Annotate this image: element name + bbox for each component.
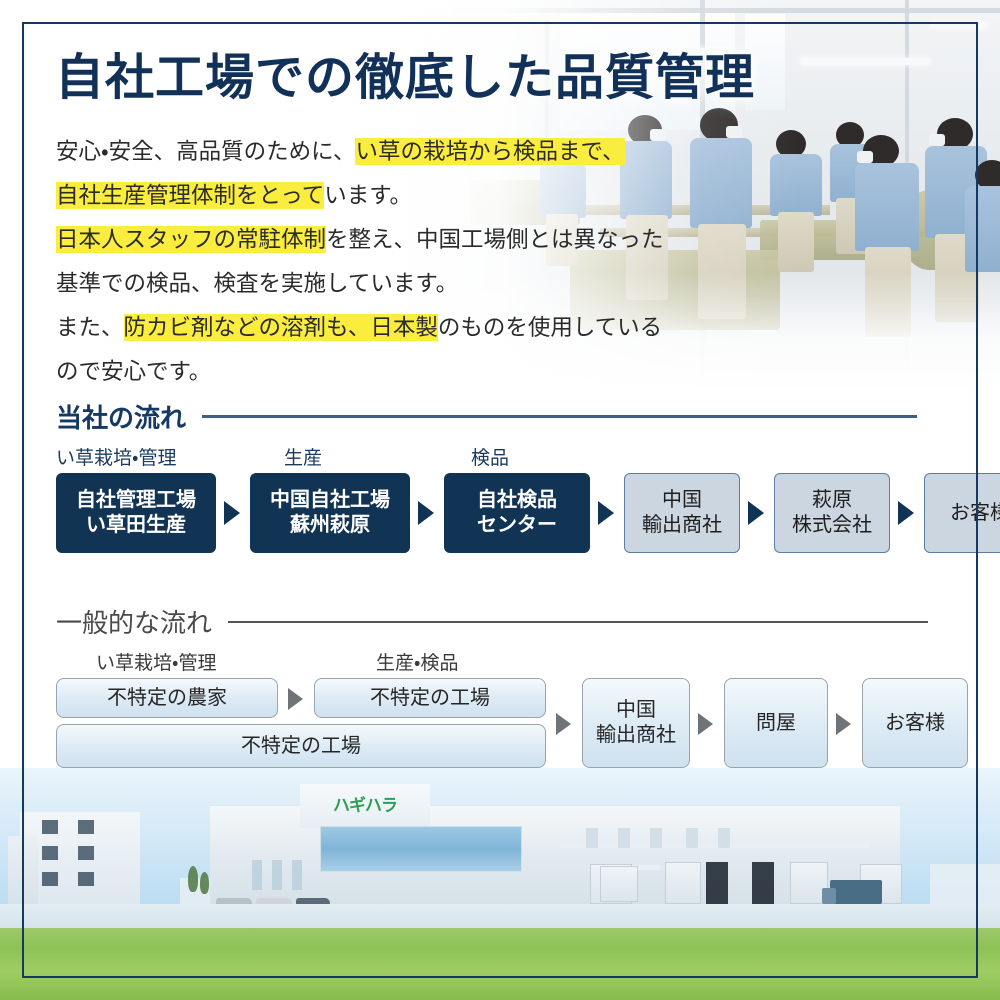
factory-exterior-photo: ハギハラ <box>0 768 1000 1000</box>
intro-paragraph: 安心・安全、高品質のために、い草の栽培から検品まで、自社生産管理体制をとっていま… <box>56 130 664 394</box>
general-stage-label-production: 生産・検品 <box>376 648 458 675</box>
section-title-general-flow: 一般的な流れ <box>56 603 212 640</box>
section-divider-general-flow <box>228 621 928 623</box>
general-box-wholesaler[interactable]: 問屋 <box>724 678 828 768</box>
general-flow-stage-labels: い草栽培・管理 生産・検品 <box>56 648 956 674</box>
highlighted-text: 防カビ剤などの溶剤も、日本製 <box>124 314 438 341</box>
intro-line-5: また、防カビ剤などの溶剤も、日本製のものを使用している <box>56 306 664 350</box>
section-heading-general-flow: 一般的な流れ <box>56 603 956 640</box>
flow-box-china-own-factory[interactable]: 中国自社工場蘇州萩原 <box>250 473 410 553</box>
plain-text: います。 <box>324 183 412 208</box>
stage-label-production: 生産 <box>284 443 322 470</box>
general-flow-boxes-row: 不特定の農家 不特定の工場 不特定の工場 中国輸出商社 問屋 お客様 <box>56 678 956 770</box>
infographic-page: 自社工場での徹底した品質管理 安心・安全、高品質のために、い草の栽培から検品まで… <box>0 0 1000 1000</box>
general-flow-arrow-icon-3 <box>698 713 713 735</box>
general-box-unspecified-factory-bottom[interactable]: 不特定の工場 <box>56 724 546 768</box>
general-flow-arrow-icon-1 <box>288 688 303 710</box>
our-flow-diagram: い草栽培・管理 生産 検品 自社管理工場い草田生産 中国自社工場蘇州萩原 自社検… <box>56 443 956 553</box>
highlighted-text: 自社生産管理体制をとって <box>56 182 324 209</box>
section-title-our-flow: 当社の流れ <box>56 398 186 435</box>
section-divider-our-flow <box>202 415 917 418</box>
general-box-unspecified-farm[interactable]: 不特定の農家 <box>56 678 278 718</box>
flow-box-customer[interactable]: お客様 <box>924 473 1000 553</box>
section-heading-our-flow: 当社の流れ <box>56 398 956 435</box>
flow-arrow-icon-3 <box>598 501 614 525</box>
general-box-unspecified-factory-top[interactable]: 不特定の工場 <box>314 678 546 718</box>
stage-label-inspection: 検品 <box>471 443 509 470</box>
flow-arrow-icon-5 <box>898 501 914 525</box>
our-flow-boxes-row: 自社管理工場い草田生産 中国自社工場蘇州萩原 自社検品センター 中国輸出商社 萩… <box>56 473 956 553</box>
flow-box-own-managed-factory[interactable]: 自社管理工場い草田生産 <box>56 473 216 553</box>
plain-text: 安心・安全、高品質のために、 <box>56 139 355 164</box>
intro-line-4: 基準での検品、検査を実施しています。 <box>56 262 664 306</box>
plain-text: のものを使用している <box>438 315 662 340</box>
general-box-customer[interactable]: お客様 <box>862 678 968 768</box>
general-flow-arrow-icon-2 <box>556 713 571 735</box>
flow-box-inspection-center[interactable]: 自社検品センター <box>444 473 590 553</box>
flow-arrow-icon-4 <box>748 501 764 525</box>
plain-text: ので安心です。 <box>56 359 211 384</box>
intro-line-1: 安心・安全、高品質のために、い草の栽培から検品まで、 <box>56 130 664 174</box>
building-sign-logo: ハギハラ <box>315 792 415 814</box>
flow-box-hagihara-corp[interactable]: 萩原株式会社 <box>774 473 890 553</box>
flow-box-china-exporter[interactable]: 中国輸出商社 <box>624 473 740 553</box>
general-flow-diagram: い草栽培・管理 生産・検品 不特定の農家 不特定の工場 不特定の工場 中国輸出商… <box>56 648 956 770</box>
general-flow-arrow-icon-4 <box>836 713 851 735</box>
intro-line-6: ので安心です。 <box>56 350 664 394</box>
plain-text: また、 <box>56 315 124 340</box>
flow-arrow-icon-1 <box>224 501 240 525</box>
general-stage-label-cultivation: い草栽培・管理 <box>96 648 216 675</box>
intro-line-2: 自社生産管理体制をとっています。 <box>56 174 664 218</box>
stage-label-cultivation: い草栽培・管理 <box>56 443 176 470</box>
general-box-china-exporter[interactable]: 中国輸出商社 <box>582 678 690 768</box>
flow-arrow-icon-2 <box>418 501 434 525</box>
intro-line-3: 日本人スタッフの常駐体制を整え、中国工場側とは異なった <box>56 218 664 262</box>
plain-text: を整え、中国工場側とは異なった <box>326 227 664 252</box>
plain-text: 基準での検品、検査を実施しています。 <box>56 271 458 296</box>
our-flow-stage-labels: い草栽培・管理 生産 検品 <box>56 443 956 469</box>
highlighted-text: 日本人スタッフの常駐体制 <box>56 226 326 253</box>
page-title: 自社工場での徹底した品質管理 <box>55 52 755 106</box>
highlighted-text: い草の栽培から検品まで、 <box>355 138 624 165</box>
